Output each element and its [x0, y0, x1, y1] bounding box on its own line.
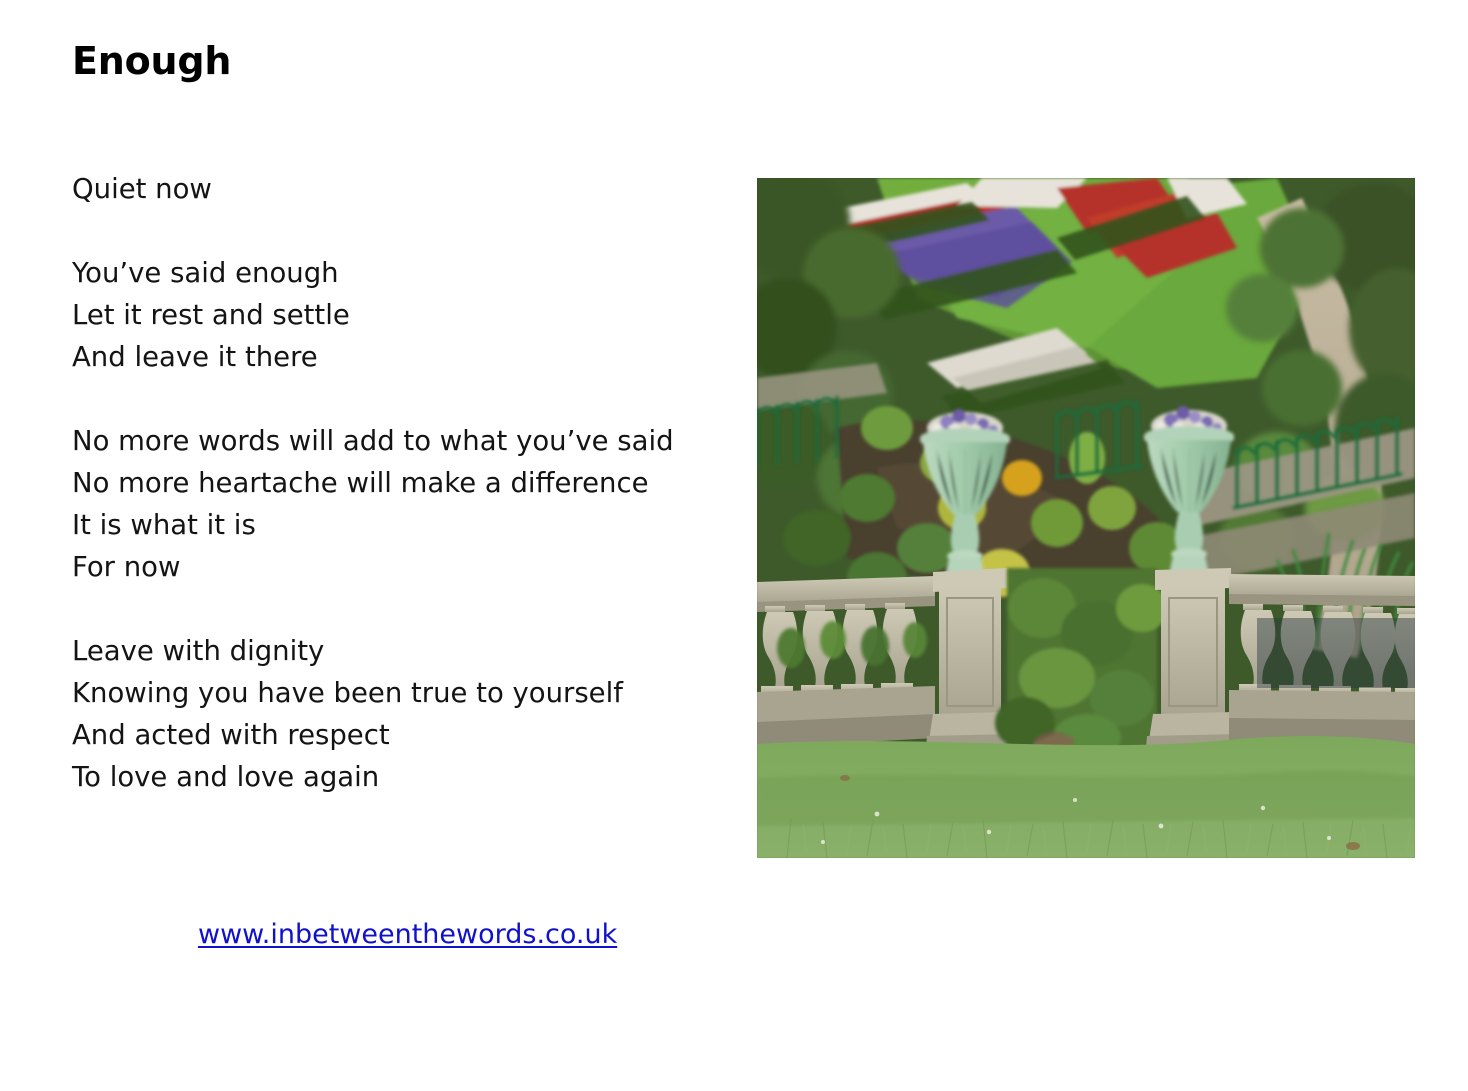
- page-title: Enough: [72, 40, 231, 84]
- poem-line: It is what it is: [72, 504, 704, 546]
- garden-photo-illustration: [757, 178, 1415, 858]
- poem-stanza: You’ve said enough Let it rest and settl…: [72, 252, 704, 378]
- poem-line: And leave it there: [72, 336, 704, 378]
- poem-stanza: Leave with dignity Knowing you have been…: [72, 630, 704, 798]
- poem-line: You’ve said enough: [72, 252, 704, 294]
- garden-photo: [757, 178, 1415, 858]
- poem-line: Leave with dignity: [72, 630, 704, 672]
- poem-stanza: No more words will add to what you’ve sa…: [72, 420, 704, 588]
- poem-line: To love and love again: [72, 756, 704, 798]
- slide-canvas: Enough Quiet now You’ve said enough Let …: [0, 0, 1468, 1091]
- poem-body: Quiet now You’ve said enough Let it rest…: [72, 168, 704, 798]
- poem-line: And acted with respect: [72, 714, 704, 756]
- poem-line: Let it rest and settle: [72, 294, 704, 336]
- poem-line: No more heartache will make a difference: [72, 462, 704, 504]
- poem-line: For now: [72, 546, 704, 588]
- poem-stanza: Quiet now: [72, 168, 704, 210]
- poem-line: No more words will add to what you’ve sa…: [72, 420, 704, 462]
- poem-line: Quiet now: [72, 168, 704, 210]
- poem-line: Knowing you have been true to yourself: [72, 672, 704, 714]
- website-link[interactable]: www.inbetweenthewords.co.uk: [198, 918, 617, 952]
